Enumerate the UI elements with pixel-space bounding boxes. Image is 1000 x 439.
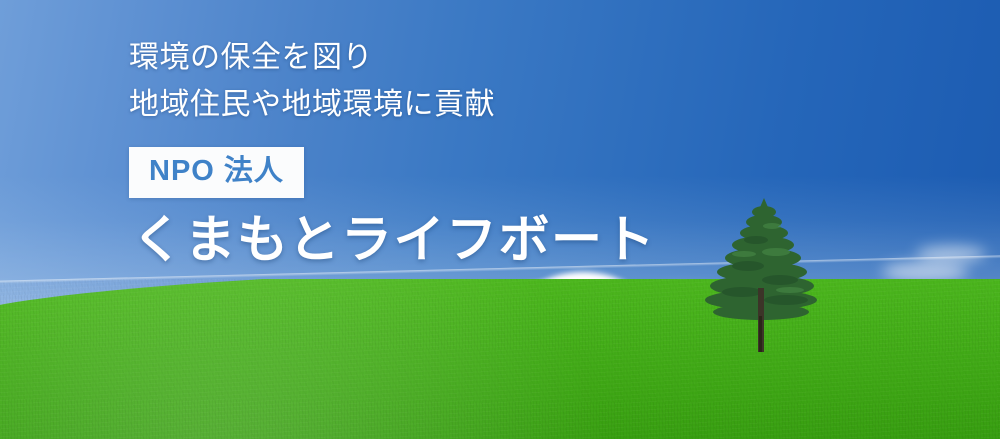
npo-badge: NPO 法人 (129, 147, 304, 198)
grass-texture-overlay (0, 279, 1000, 439)
npo-hero-banner: 環境の保全を図り 地域住民や地域環境に貢献 NPO 法人 くまもとライフボート (0, 0, 1000, 439)
hero-copy: 環境の保全を図り 地域住民や地域環境に貢献 NPO 法人 くまもとライフボート (129, 34, 749, 269)
tagline-line-1: 環境の保全を図り (129, 34, 749, 81)
tagline-line-2: 地域住民や地域環境に貢献 (129, 81, 749, 128)
hill-shape (0, 279, 1000, 439)
grass-hill (0, 279, 1000, 439)
organization-name: くまもとライフボート (132, 211, 749, 269)
